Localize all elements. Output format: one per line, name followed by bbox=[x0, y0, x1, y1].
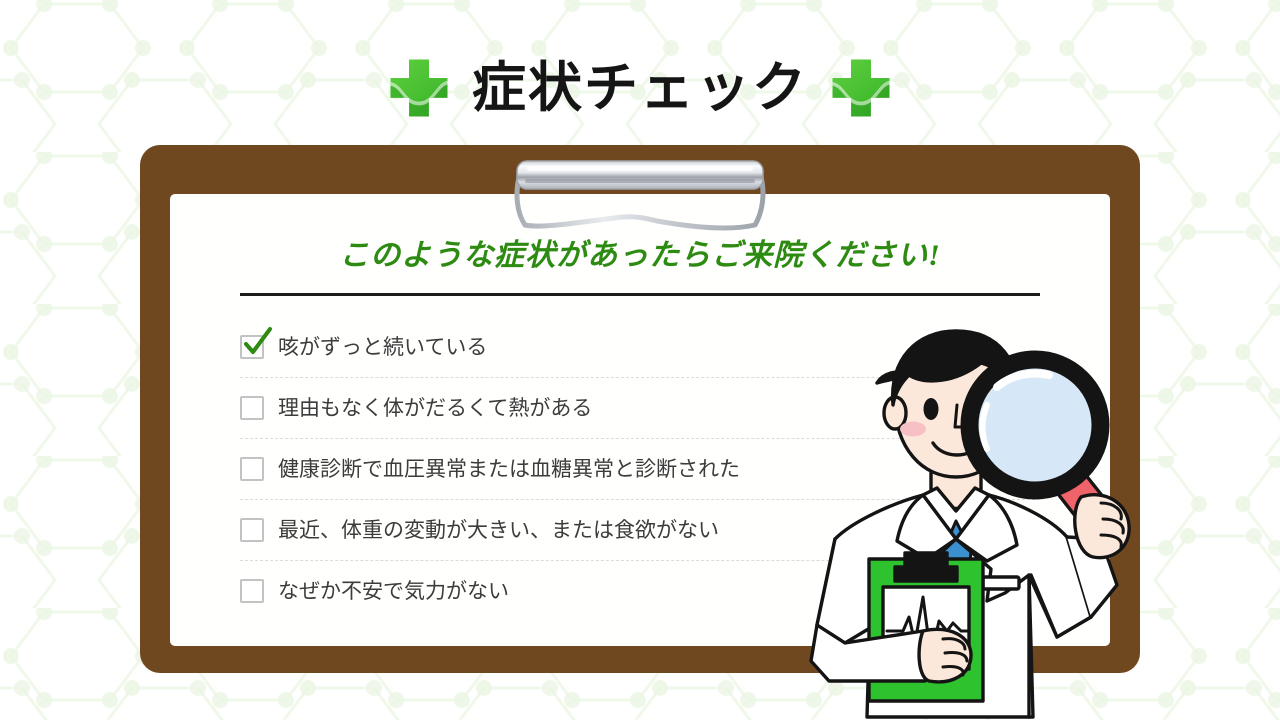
checklist-item[interactable]: なぜか不安で気力がない bbox=[240, 561, 1040, 621]
checklist-item[interactable]: 咳がずっと続いている bbox=[240, 317, 1040, 378]
checklist-item[interactable]: 健康診断で血圧異常または血糖異常と診断された bbox=[240, 439, 1040, 500]
clipboard-clip-icon bbox=[505, 155, 775, 235]
checkbox-unchecked[interactable] bbox=[240, 457, 264, 481]
card-content: このような症状があったらご来院ください! 咳がずっと続いている 理由もなく体がだ… bbox=[170, 194, 1110, 646]
page-title: 症状チェック bbox=[472, 61, 808, 115]
checklist-item-label: 最近、体重の変動が大きい、または食欲がない bbox=[278, 520, 719, 541]
green-cross-icon-right bbox=[830, 57, 892, 119]
checklist-item[interactable]: 最近、体重の変動が大きい、または食欲がない bbox=[240, 500, 1040, 561]
green-cross-icon-left bbox=[388, 57, 450, 119]
checklist-item-label: なぜか不安で気力がない bbox=[278, 581, 509, 602]
checkbox-unchecked[interactable] bbox=[240, 579, 264, 603]
title-divider bbox=[240, 293, 1040, 296]
symptom-checklist: 咳がずっと続いている 理由もなく体がだるくて熱がある 健康診断で血圧異常または血… bbox=[240, 317, 1040, 621]
checkbox-checked[interactable] bbox=[240, 335, 264, 359]
checklist-item-label: 健康診断で血圧異常または血糖異常と診断された bbox=[278, 459, 740, 480]
checkbox-unchecked[interactable] bbox=[240, 518, 264, 542]
card-subtitle: このような症状があったらご来院ください! bbox=[170, 230, 1110, 274]
checklist-item-label: 理由もなく体がだるくて熱がある bbox=[278, 398, 592, 419]
checkbox-unchecked[interactable] bbox=[240, 396, 264, 420]
check-mark-icon bbox=[240, 326, 274, 360]
page-header: 症状チェック bbox=[0, 42, 1280, 134]
checklist-item[interactable]: 理由もなく体がだるくて熱がある bbox=[240, 378, 1040, 439]
checklist-item-label: 咳がずっと続いている bbox=[278, 337, 487, 358]
